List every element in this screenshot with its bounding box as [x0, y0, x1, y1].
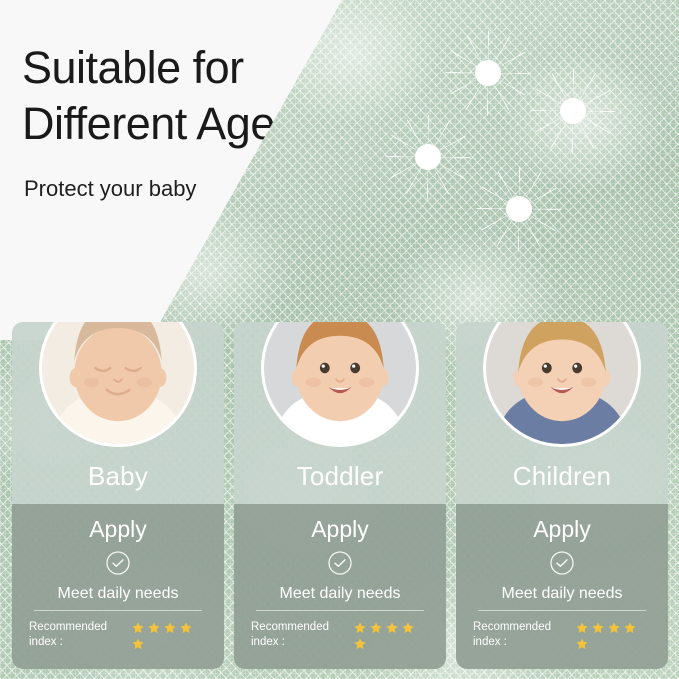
needs-label: Meet daily needs — [280, 585, 401, 603]
divider — [256, 610, 424, 611]
card-title: Baby — [12, 461, 224, 492]
avatar — [483, 322, 641, 447]
card-top-section: Children — [456, 322, 668, 504]
star-icon — [623, 621, 637, 635]
star-icon — [147, 621, 161, 635]
apply-label: Apply — [89, 516, 147, 543]
mesh-dot — [560, 98, 586, 124]
card-title: Toddler — [234, 461, 446, 492]
headline-line-1: Suitable for — [22, 42, 244, 93]
avatar — [261, 322, 419, 447]
rating-label: Recommended index : — [251, 620, 337, 650]
sleeping-baby-photo — [42, 322, 194, 444]
star-icon — [401, 621, 415, 635]
divider — [478, 610, 646, 611]
smiling-toddler-photo — [264, 322, 416, 444]
card-bottom-section: Apply Meet daily needs Recommended index… — [234, 504, 446, 669]
check-circle-icon — [327, 550, 353, 576]
star-icon — [591, 621, 605, 635]
star-rating — [131, 620, 207, 651]
star-icon — [575, 621, 589, 635]
star-icon — [353, 637, 367, 651]
star-icon — [607, 621, 621, 635]
promo-banner: Suitable for Different Ages Protect your… — [0, 0, 679, 679]
headline-line-2: Different Ages — [22, 98, 297, 149]
card-top-section: Baby — [12, 322, 224, 504]
card-top-section: Toddler — [234, 322, 446, 504]
rating-label: Recommended index : — [473, 620, 559, 650]
apply-label: Apply — [533, 516, 591, 543]
divider — [34, 610, 202, 611]
star-icon — [131, 637, 145, 651]
age-group-card-toddler[interactable]: Toddler Apply Meet daily needs Recommend… — [234, 322, 446, 669]
star-rating — [575, 620, 651, 651]
check-circle-icon — [105, 550, 131, 576]
avatar — [39, 322, 197, 447]
check-circle-icon — [549, 550, 575, 576]
mesh-dot — [415, 144, 441, 170]
star-icon — [179, 621, 193, 635]
rating-row: Recommended index : — [29, 620, 207, 651]
apply-label: Apply — [311, 516, 369, 543]
age-group-card-list: Baby Apply Meet daily needs Recommended … — [12, 322, 670, 669]
age-group-card-baby[interactable]: Baby Apply Meet daily needs Recommended … — [12, 322, 224, 669]
card-bottom-section: Apply Meet daily needs Recommended index… — [12, 504, 224, 669]
needs-label: Meet daily needs — [58, 585, 179, 603]
rating-label: Recommended index : — [29, 620, 115, 650]
star-rating — [353, 620, 429, 651]
star-icon — [385, 621, 399, 635]
age-group-card-children[interactable]: Children Apply Meet daily needs Recommen… — [456, 322, 668, 669]
mesh-dot — [475, 60, 501, 86]
star-icon — [163, 621, 177, 635]
rating-row: Recommended index : — [251, 620, 429, 651]
card-title: Children — [456, 461, 668, 492]
star-icon — [353, 621, 367, 635]
star-icon — [131, 621, 145, 635]
mesh-dot — [506, 196, 532, 222]
star-icon — [575, 637, 589, 651]
card-bottom-section: Apply Meet daily needs Recommended index… — [456, 504, 668, 669]
young-girl-photo — [486, 322, 638, 444]
rating-row: Recommended index : — [473, 620, 651, 651]
star-icon — [369, 621, 383, 635]
needs-label: Meet daily needs — [502, 585, 623, 603]
